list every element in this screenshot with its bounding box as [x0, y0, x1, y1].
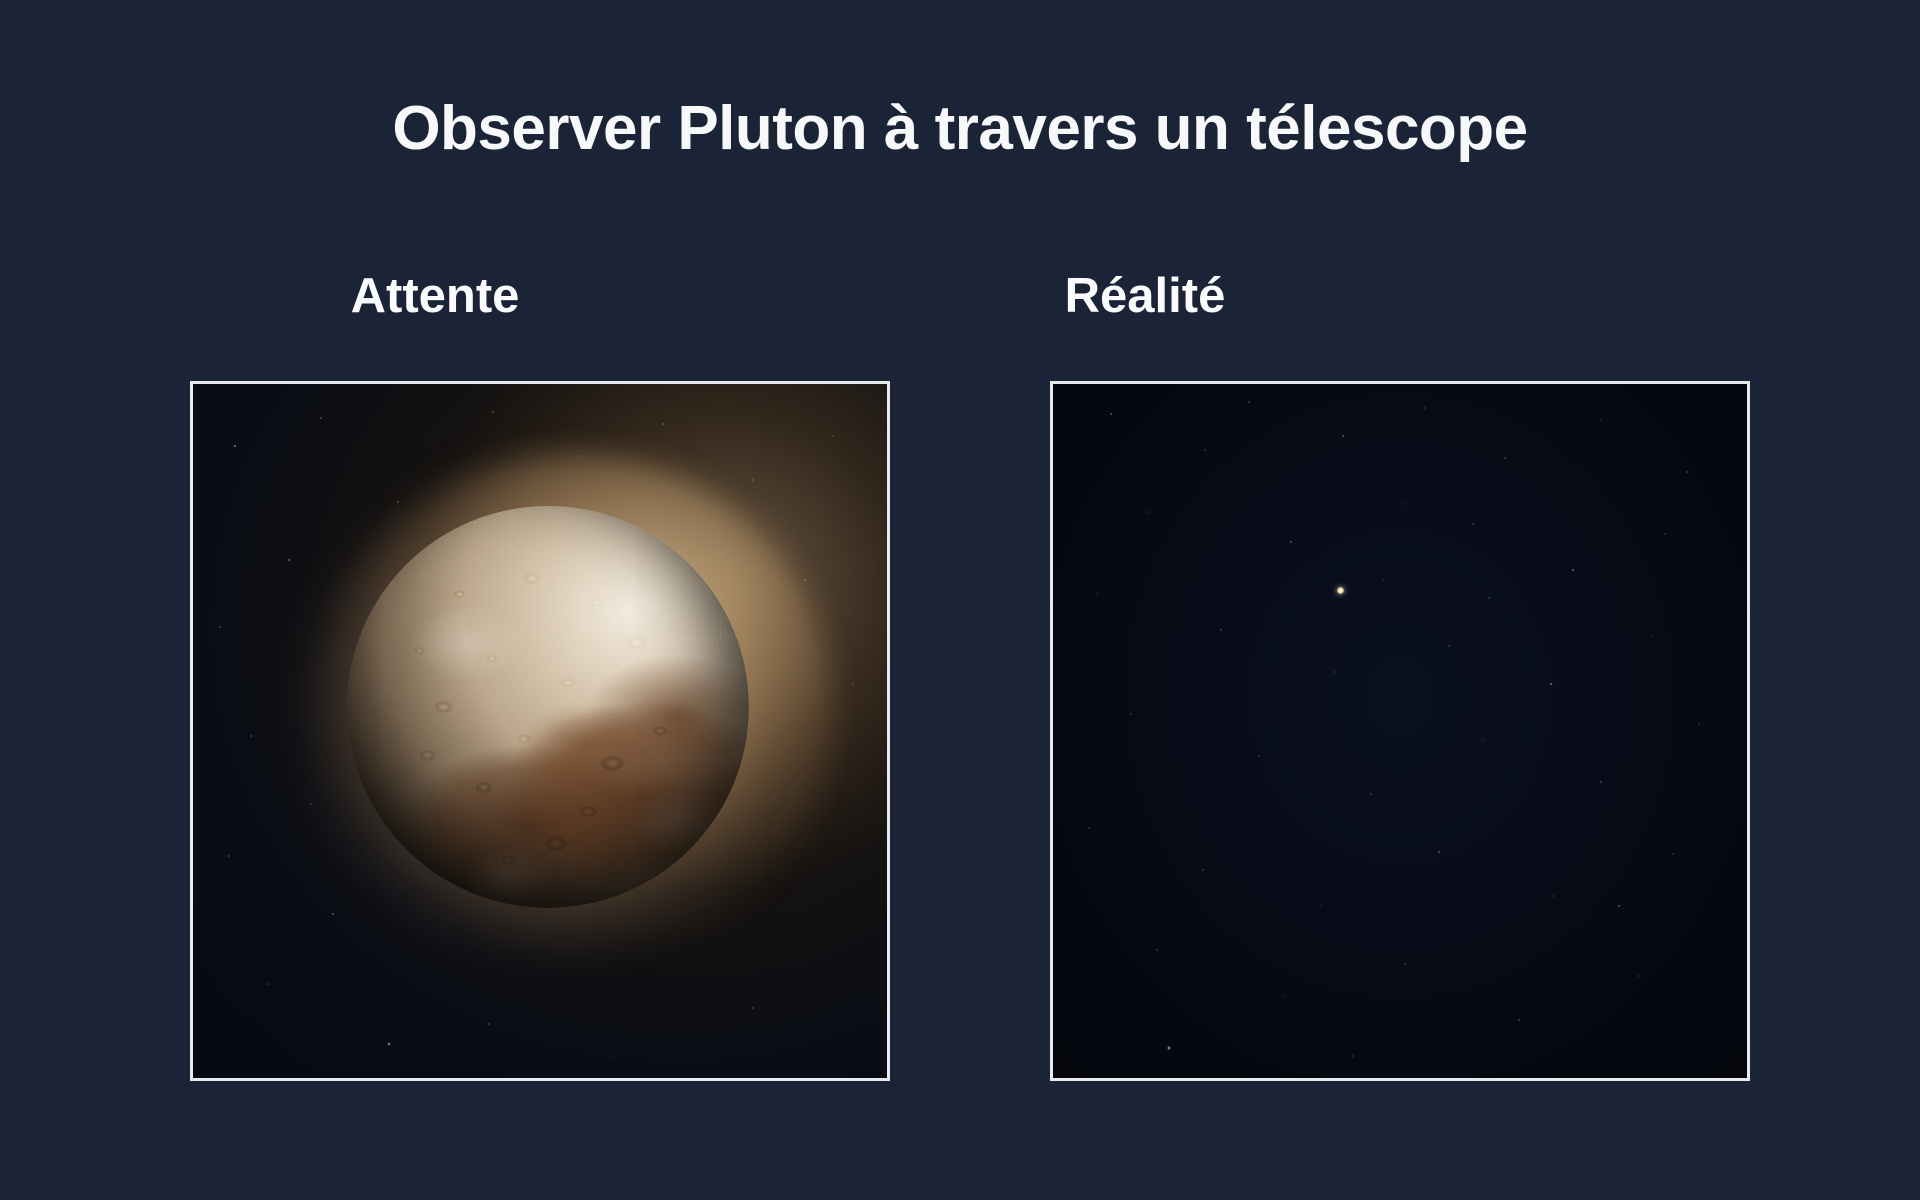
- page-title: Observer Pluton à travers un télescope: [0, 96, 1920, 161]
- pluto-dot: [1337, 587, 1344, 594]
- expectation-image: [193, 384, 887, 1078]
- meme-canvas: Observer Pluton à travers un télescope A…: [0, 0, 1920, 1200]
- panel-caption-expectation: Attente: [115, 272, 755, 321]
- starfield: [1053, 384, 1747, 1078]
- terminator-shadow: [347, 506, 749, 908]
- panel-expectation: [190, 381, 890, 1081]
- pluto-planet: [347, 506, 749, 908]
- reality-image: [1053, 384, 1747, 1078]
- panel-caption-reality: Réalité: [825, 272, 1465, 321]
- panel-reality: [1050, 381, 1750, 1081]
